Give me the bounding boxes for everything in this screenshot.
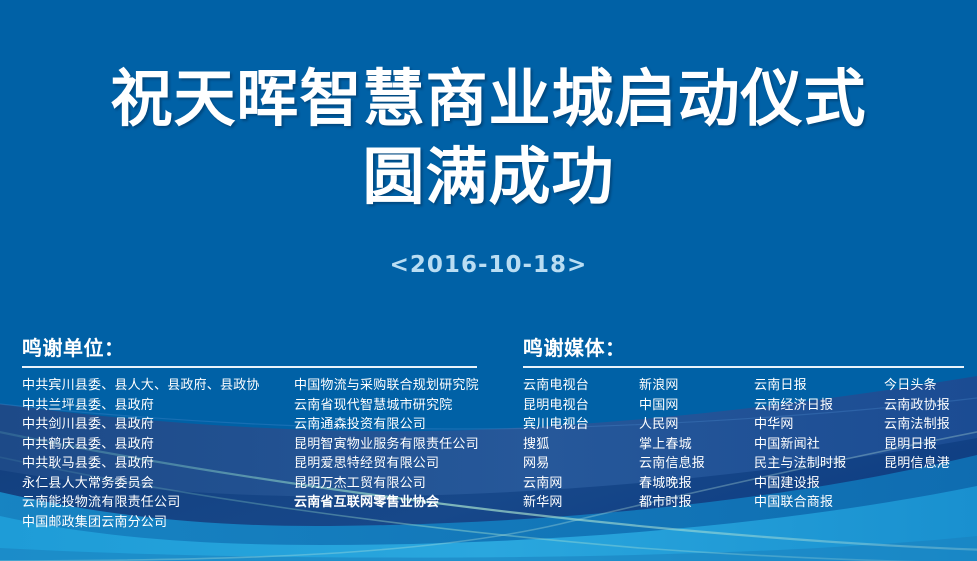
list-item: 中国邮政集团云南分公司 [22,513,294,533]
list-item: 云南省互联网零售业协会 [294,493,477,513]
event-date: <2016-10-18> [0,252,977,278]
headline-line-1: 祝天晖智慧商业城启动仪式 [0,60,977,138]
list-item: 中共耿马县委、县政府 [22,454,294,474]
list-item: 中共宾川县委、县人大、县政府、县政协 [22,376,294,396]
list-item: 新华网 [523,493,639,513]
list-item: 永仁县人大常务委员会 [22,474,294,494]
list-item: 昆明爱思特经贸有限公司 [294,454,477,474]
event-poster: 祝天晖智慧商业城启动仪式 圆满成功 <2016-10-18> 鸣谢单位： 中共宾… [0,0,977,561]
list-item: 中国物流与采购联合规划研究院 [294,376,477,396]
list-item: 云南信息报 [639,454,754,474]
list-item: 宾川电视台 [523,415,639,435]
thanks-units-title: 鸣谢单位： [22,336,477,360]
list-item: 新浪网 [639,376,754,396]
list-item: 中华网 [754,415,884,435]
list-item: 中共兰坪县委、县政府 [22,396,294,416]
list-item: 网易 [523,454,639,474]
thanks-units-divider [22,366,477,368]
list-item: 云南经济日报 [754,396,884,416]
list-item: 云南电视台 [523,376,639,396]
units-column-2: 中国物流与采购联合规划研究院 云南省现代智慧城市研究院 云南通森投资有限公司 昆… [294,376,477,532]
list-item: 中国新闻社 [754,435,884,455]
list-item: 人民网 [639,415,754,435]
list-item: 云南网 [523,474,639,494]
list-item: 昆明智寅物业服务有限责任公司 [294,435,477,455]
list-item: 掌上春城 [639,435,754,455]
list-item: 云南通森投资有限公司 [294,415,477,435]
list-item: 民主与法制时报 [754,454,884,474]
units-column-1: 中共宾川县委、县人大、县政府、县政协 中共兰坪县委、县政府 中共剑川县委、县政府… [22,376,294,532]
list-item: 云南政协报 [884,396,964,416]
list-item: 云南能投物流有限责任公司 [22,493,294,513]
list-item: 云南日报 [754,376,884,396]
list-item: 中国联合商报 [754,493,884,513]
poster-headline: 祝天晖智慧商业城启动仪式 圆满成功 [0,60,977,216]
list-item: 昆明日报 [884,435,964,455]
media-column-4: 今日头条 云南政协报 云南法制报 昆明日报 昆明信息港 [884,376,964,513]
list-item: 中国网 [639,396,754,416]
list-item: 中国建设报 [754,474,884,494]
list-item: 中共剑川县委、县政府 [22,415,294,435]
media-column-2: 新浪网 中国网 人民网 掌上春城 云南信息报 春城晚报 都市时报 [639,376,754,513]
list-item: 今日头条 [884,376,964,396]
list-item: 昆明电视台 [523,396,639,416]
thanks-media-divider [523,366,964,368]
thanks-media-section: 鸣谢媒体： 云南电视台 昆明电视台 宾川电视台 搜狐 网易 云南网 新华网 新浪… [523,336,964,513]
list-item: 昆明万杰工贸有限公司 [294,474,477,494]
headline-line-2: 圆满成功 [0,138,977,216]
list-item: 春城晚报 [639,474,754,494]
thanks-media-title: 鸣谢媒体： [523,336,964,360]
list-item: 云南省现代智慧城市研究院 [294,396,477,416]
media-column-3: 云南日报 云南经济日报 中华网 中国新闻社 民主与法制时报 中国建设报 中国联合… [754,376,884,513]
media-column-1: 云南电视台 昆明电视台 宾川电视台 搜狐 网易 云南网 新华网 [523,376,639,513]
list-item: 都市时报 [639,493,754,513]
list-item: 云南法制报 [884,415,964,435]
list-item: 中共鹤庆县委、县政府 [22,435,294,455]
list-item: 搜狐 [523,435,639,455]
thanks-units-section: 鸣谢单位： 中共宾川县委、县人大、县政府、县政协 中共兰坪县委、县政府 中共剑川… [22,336,477,532]
list-item: 昆明信息港 [884,454,964,474]
